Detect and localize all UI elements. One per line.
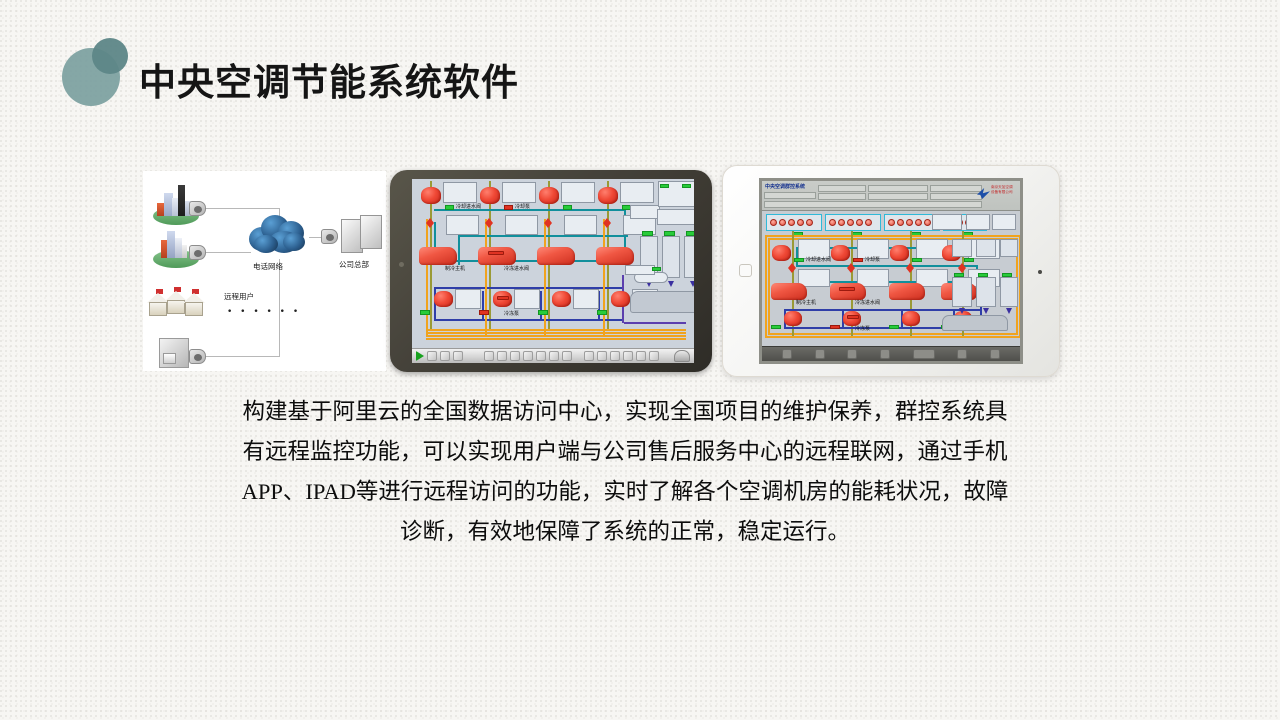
status-indicator <box>420 310 430 315</box>
valve-icon <box>847 268 855 273</box>
readout-box <box>620 182 654 203</box>
grid-icon[interactable] <box>815 349 825 359</box>
scada-header-bar: 中央空调群控系统 南京天加空调设备有限公司 <box>762 181 1020 211</box>
status-indicator <box>771 325 781 329</box>
label-cooling-pump: 冷却泵 <box>865 258 880 263</box>
control-column[interactable] <box>976 239 996 257</box>
load-tank <box>630 291 694 313</box>
readout-box <box>573 289 599 309</box>
report-icon[interactable] <box>610 351 620 361</box>
pump-icon <box>902 311 920 326</box>
pump-icon <box>434 291 453 307</box>
wire <box>206 356 280 357</box>
readout-box <box>630 205 660 219</box>
pump-icon <box>539 187 559 204</box>
arrow-right-icon[interactable] <box>584 351 594 361</box>
status-indicator <box>597 310 607 315</box>
status-indicator <box>664 231 675 236</box>
media-row: 远程用户 • • • • • • 电话网络 <box>0 160 1280 375</box>
up-icon[interactable] <box>562 351 572 361</box>
scada-hvac-screen-white[interactable]: 中央空调群控系统 南京天加空调设备有限公司 <box>762 181 1020 361</box>
readout-box <box>798 239 830 259</box>
status-indicator <box>912 258 922 262</box>
document-icon[interactable] <box>453 351 463 361</box>
modem-icon-2 <box>189 245 206 260</box>
status-indicator <box>652 267 661 271</box>
chiller-stopped-indicator <box>488 251 504 255</box>
play-icon[interactable] <box>416 351 424 361</box>
status-indicator <box>660 184 669 188</box>
valve-icon <box>906 268 914 273</box>
gear-icon[interactable] <box>497 351 507 361</box>
flow-arrow-icon <box>668 281 674 287</box>
label-cooling-inlet-valve: 冷却进水阀 <box>456 205 481 210</box>
scada-toolbar-dark[interactable] <box>412 348 694 363</box>
chiller-icon <box>419 247 457 265</box>
pump-icon <box>611 291 630 307</box>
control-column[interactable] <box>1000 277 1018 307</box>
pump-stopped-indicator <box>847 315 859 319</box>
body-line-3: APP、IPAD等进行远程访问的功能，实时了解各个空调机房的能耗状况，故障 <box>200 472 1050 512</box>
label-cooling-pump: 冷却泵 <box>515 205 530 210</box>
load-tank <box>942 315 1008 331</box>
readout-box <box>443 182 477 203</box>
modem-icon-1 <box>189 201 206 216</box>
label-ellipsis: • • • • • • <box>227 307 301 317</box>
chiller-icon <box>889 283 925 300</box>
logo-mark <box>62 38 136 110</box>
status-indicator <box>538 310 548 315</box>
gear-icon[interactable] <box>536 351 546 361</box>
pump-icon <box>831 245 850 261</box>
readout-box <box>505 215 538 235</box>
tablet-dark-device: 冷却进水阀 冷却泵 <box>390 170 712 372</box>
gear-icon[interactable] <box>510 351 520 361</box>
pump-icon <box>421 187 441 204</box>
pump-icon <box>890 245 909 261</box>
readout-box <box>446 215 479 235</box>
bird-logo-icon <box>977 188 990 199</box>
tablet-dark-screen[interactable]: 冷却进水阀 冷却泵 <box>412 179 694 363</box>
wire <box>201 252 251 253</box>
alarm-icon[interactable] <box>636 351 646 361</box>
status-indicator <box>504 205 513 210</box>
control-column[interactable] <box>952 277 972 307</box>
label-chiller: 制冷主机 <box>796 301 816 306</box>
pump-stopped-indicator <box>497 296 509 300</box>
tablet-white-screen[interactable]: 中央空调群控系统 南京天加空调设备有限公司 <box>759 178 1023 364</box>
scada-screen-title: 中央空调群控系统 <box>765 183 805 190</box>
cooling-tower-group <box>766 214 822 231</box>
flow-arrow-icon <box>690 281 694 287</box>
valve-icon <box>788 268 796 273</box>
pump-icon <box>784 311 802 326</box>
control-column[interactable] <box>684 236 694 278</box>
branch-icon[interactable] <box>427 351 437 361</box>
save-icon[interactable] <box>623 351 633 361</box>
chart-icon[interactable] <box>484 351 494 361</box>
modem-icon-3 <box>189 349 206 364</box>
front-camera-icon <box>1038 270 1042 274</box>
pump-icon <box>552 291 571 307</box>
label-chilled-pump: 冷冻泵 <box>855 327 870 332</box>
slide-header: 中央空调节能系统软件 <box>0 0 1280 150</box>
company-logo: 南京天加空调设备有限公司 <box>976 184 1016 204</box>
readout-box <box>992 214 1016 230</box>
network-topology-image: 远程用户 • • • • • • 电话网络 <box>143 171 386 371</box>
label-chilled-inlet-valve: 冷冻进水阀 <box>504 267 529 272</box>
globe-icon[interactable] <box>549 351 559 361</box>
telephone-network-cloud-icon <box>247 209 309 257</box>
status-indicator <box>794 258 804 262</box>
label-chilled-pump: 冷冻泵 <box>504 312 519 317</box>
company-logo-text: 南京天加空调设备有限公司 <box>991 185 1016 194</box>
label-telephone-network: 电话网络 <box>253 261 283 272</box>
status-indicator <box>889 325 899 329</box>
scada-hvac-screen-dark[interactable]: 冷却进水阀 冷却泵 <box>412 179 694 363</box>
status-indicator <box>954 273 964 277</box>
logo-circle-small-icon <box>92 38 128 74</box>
valve-icon <box>485 223 493 228</box>
pump-icon <box>772 245 791 261</box>
body-line-1: 构建基于阿里云的全国数据访问中心，实现全国项目的维护保养，群控系统具 <box>200 392 1050 432</box>
body-line-2: 有远程监控功能，可以实现用户端与公司售后服务中心的远程联网，通过手机 <box>200 432 1050 472</box>
chiller-stopped-indicator <box>839 287 855 291</box>
back-icon[interactable] <box>990 349 1000 359</box>
pump-icon <box>480 187 500 204</box>
status-indicator <box>445 205 454 210</box>
tools-icon[interactable] <box>880 349 890 359</box>
body-paragraph: 构建基于阿里云的全国数据访问中心，实现全国项目的维护保养，群控系统具 有远程监控… <box>200 392 1050 552</box>
body-line-4: 诊断，有效地保障了系统的正常，稳定运行。 <box>200 512 1050 552</box>
status-indicator <box>682 184 691 188</box>
valve-icon <box>426 223 434 228</box>
folder-icon[interactable] <box>440 351 450 361</box>
status-indicator <box>642 231 653 236</box>
scada-toolbar-white[interactable] <box>762 346 1020 361</box>
home-button[interactable] <box>739 264 752 277</box>
status-indicator <box>686 231 694 236</box>
page-title: 中央空调节能系统软件 <box>139 59 519 107</box>
gear-icon[interactable] <box>523 351 533 361</box>
chiller-icon <box>537 247 575 265</box>
clock-icon[interactable] <box>674 350 690 362</box>
cooling-tower-group <box>825 214 881 231</box>
gear-icon[interactable] <box>957 349 967 359</box>
headquarters-servers-icon <box>341 215 383 255</box>
control-column[interactable] <box>976 277 996 307</box>
wrench-icon[interactable] <box>847 349 857 359</box>
chiller-icon <box>830 283 866 300</box>
status-indicator <box>830 325 840 329</box>
readout-box <box>932 214 962 230</box>
flow-arrow-icon <box>983 308 989 314</box>
status-indicator <box>1002 273 1012 277</box>
readout-box <box>657 209 694 225</box>
label-chiller: 制冷主机 <box>445 267 465 272</box>
chiller-icon <box>771 283 807 300</box>
label-remote-users: 远程用户 <box>224 291 254 302</box>
readout-box <box>455 289 481 309</box>
status-indicator <box>479 310 489 315</box>
readout-box <box>625 265 655 275</box>
status-indicator <box>978 273 988 277</box>
status-indicator <box>853 258 863 262</box>
label-cooling-inlet-valve: 冷却进水阀 <box>806 258 831 263</box>
valve-icon <box>603 223 611 228</box>
modem-icon-hq <box>321 229 338 244</box>
readout-box <box>561 182 595 203</box>
chiller-icon <box>596 247 634 265</box>
keyboard-icon[interactable] <box>913 349 935 359</box>
control-column[interactable] <box>952 239 972 257</box>
slide-root: 中央空调节能系统软件 <box>0 0 1280 720</box>
abc-icon[interactable] <box>649 351 659 361</box>
flow-arrow-icon <box>1006 308 1012 314</box>
readout-box <box>857 239 889 259</box>
readout-box <box>514 289 540 309</box>
control-column[interactable] <box>1000 239 1018 257</box>
chiller-icon <box>478 247 516 265</box>
status-indicator <box>964 258 974 262</box>
readout-box <box>502 182 536 203</box>
pump-icon <box>598 187 618 204</box>
remote-houses-icon <box>147 289 217 319</box>
front-camera-icon <box>399 262 404 267</box>
flow-arrow-icon <box>959 308 965 314</box>
tablet-white-device: 中央空调群控系统 南京天加空调设备有限公司 <box>722 165 1060 377</box>
valve-icon <box>544 223 552 228</box>
readout-box <box>966 214 990 230</box>
label-headquarters: 公司总部 <box>339 259 369 270</box>
readout-box <box>564 215 597 235</box>
minus-icon[interactable] <box>597 351 607 361</box>
status-indicator <box>563 205 572 210</box>
label-chilled-inlet-valve: 冷冻进水阀 <box>855 301 880 306</box>
close-icon[interactable] <box>782 349 792 359</box>
